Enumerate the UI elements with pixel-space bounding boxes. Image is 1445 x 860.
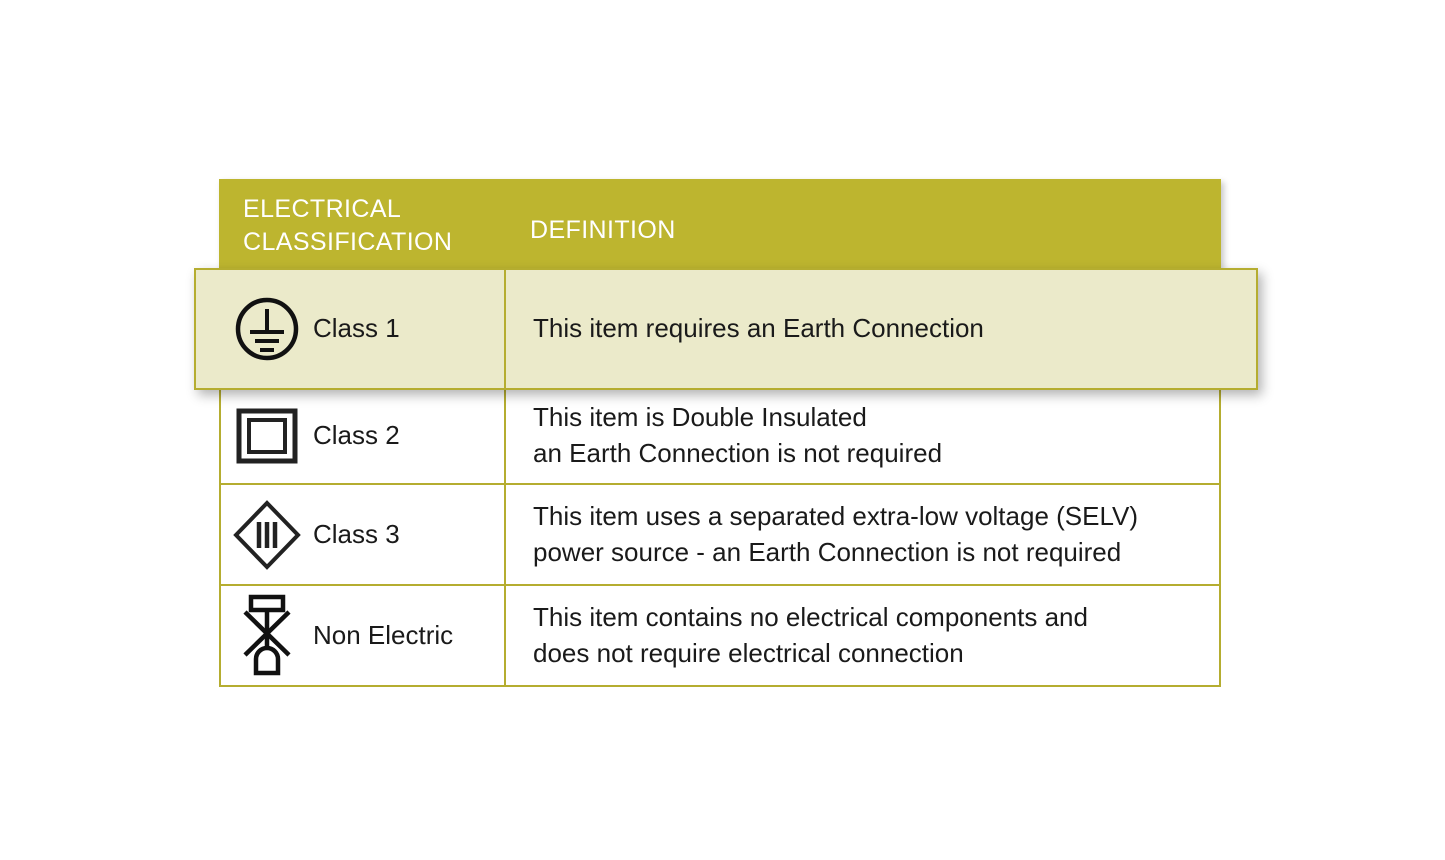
classification-cell: Non Electric [221, 586, 506, 685]
table-row[interactable]: Class 3 This item uses a separated extra… [221, 483, 1219, 584]
table-header: ELECTRICAL CLASSIFICATION DEFINITION [219, 179, 1221, 269]
classification-label: Class 1 [313, 313, 400, 344]
diamond-three-bars-icon [221, 499, 313, 571]
electrical-classification-table: ELECTRICAL CLASSIFICATION DEFINITION Cla… [219, 179, 1221, 687]
definition-text: This item requires an Earth Connection [533, 311, 984, 347]
definition-cell: This item contains no electrical compone… [506, 586, 1219, 685]
column-header-electrical-classification: ELECTRICAL CLASSIFICATION [243, 193, 452, 259]
column-header-definition: DEFINITION [530, 214, 676, 247]
table-row-highlighted[interactable]: Class 1 This item requires an Earth Conn… [194, 268, 1258, 390]
earth-ground-icon [221, 296, 313, 362]
definition-cell: This item uses a separated extra-low vol… [506, 485, 1219, 584]
classification-label: Non Electric [313, 620, 453, 651]
classification-label: Class 2 [313, 420, 400, 451]
classification-label: Class 3 [313, 519, 400, 550]
table-row[interactable]: Class 2 This item is Double Insulated an… [221, 387, 1219, 483]
classification-cell: Class 2 [221, 389, 506, 483]
classification-cell: Class 1 [196, 270, 506, 388]
definition-text: This item contains no electrical compone… [533, 600, 1088, 672]
double-square-insulation-icon [221, 408, 313, 464]
definition-cell: This item is Double Insulated an Earth C… [506, 389, 1219, 483]
definition-text: This item is Double Insulated an Earth C… [533, 400, 942, 472]
crossed-out-plug-icon [221, 593, 313, 679]
definition-text: This item uses a separated extra-low vol… [533, 499, 1138, 571]
classification-cell: Class 3 [221, 485, 506, 584]
definition-cell: This item requires an Earth Connection [506, 270, 1256, 388]
table-row[interactable]: Non Electric This item contains no elect… [221, 584, 1219, 685]
